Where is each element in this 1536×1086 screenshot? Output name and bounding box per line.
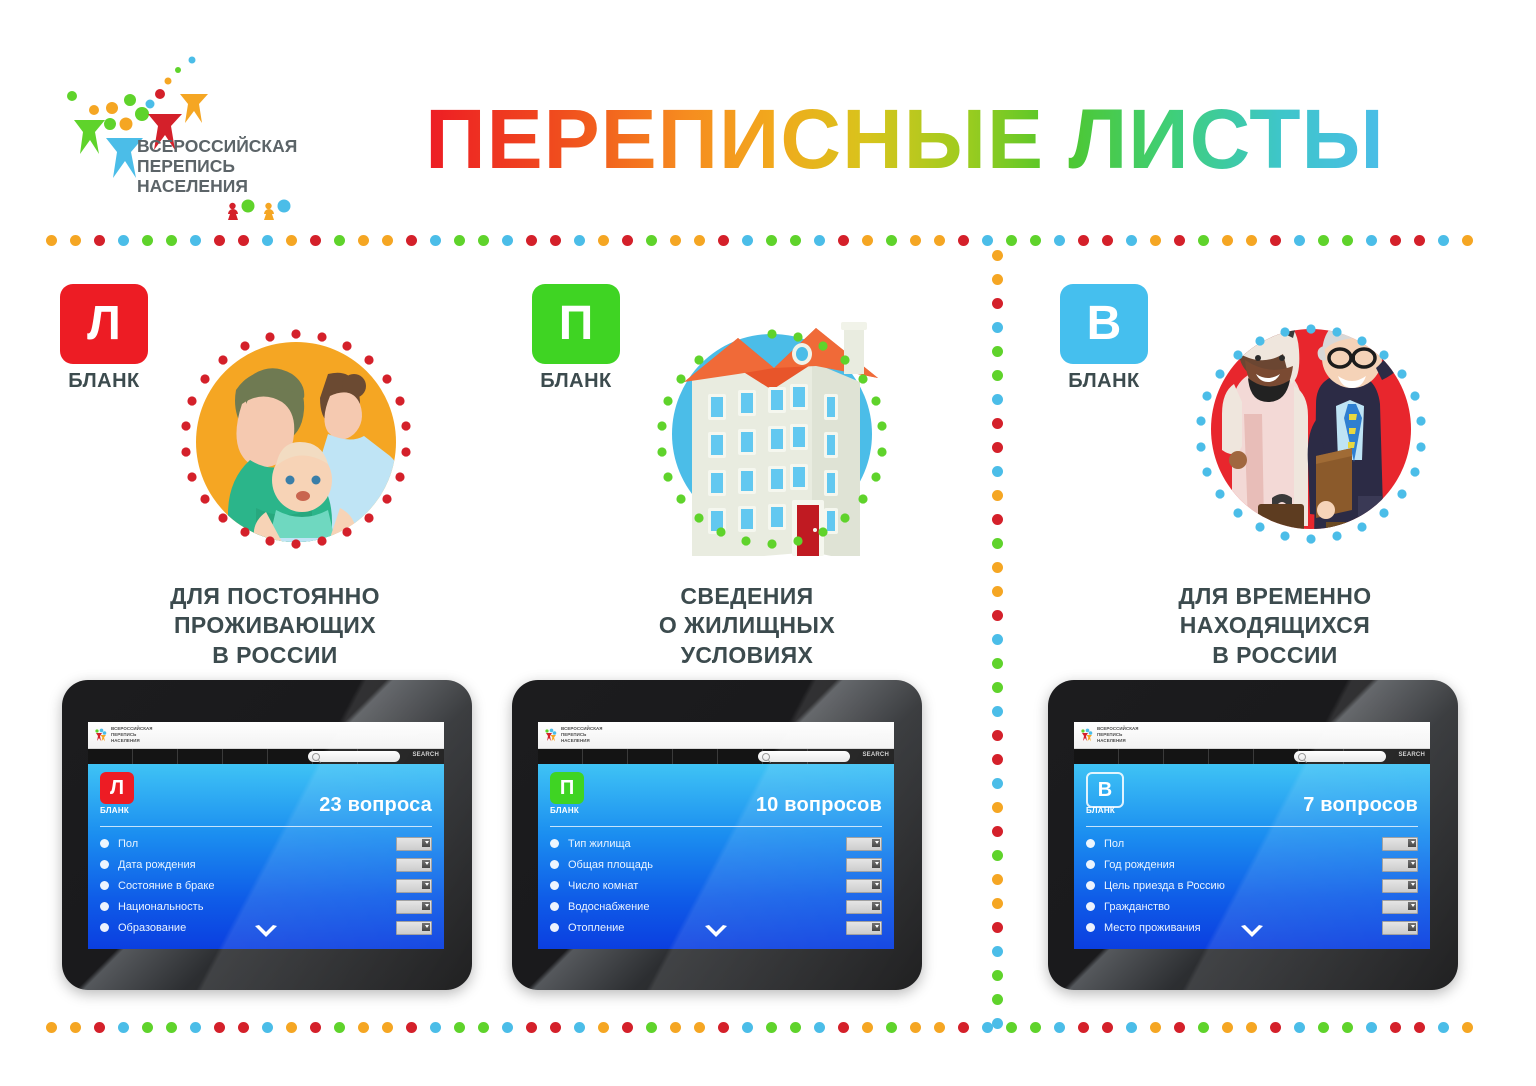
divider-dot xyxy=(718,1022,729,1033)
answer-dropdown[interactable] xyxy=(396,900,432,914)
divider-dot xyxy=(1102,1022,1113,1033)
tablet-badge-letter: П xyxy=(550,772,584,804)
divider-dot xyxy=(406,235,417,246)
divider-dot xyxy=(670,1022,681,1033)
divider-dot xyxy=(598,1022,609,1033)
divider-dot xyxy=(1414,1022,1425,1033)
tablet-badge-label: БЛАНК xyxy=(550,806,579,815)
answer-dropdown[interactable] xyxy=(396,879,432,893)
divider-dot xyxy=(46,1022,57,1033)
divider-dot xyxy=(310,1022,321,1033)
search-input[interactable] xyxy=(758,751,850,762)
divider-dot xyxy=(1342,235,1353,246)
divider-dot xyxy=(670,235,681,246)
search-label[interactable]: SEARCH xyxy=(862,752,889,758)
divider-dot xyxy=(1078,1022,1089,1033)
caption-line: В РОССИИ xyxy=(40,641,510,670)
chevron-down-icon xyxy=(1411,841,1415,844)
divider-dot xyxy=(1318,235,1329,246)
answer-dropdown[interactable] xyxy=(1382,921,1418,935)
list-item[interactable]: Состояние в браке xyxy=(100,875,432,896)
badge-label-v: БЛАНК xyxy=(1050,370,1158,393)
divider-dot xyxy=(646,1022,657,1033)
nav-cell[interactable] xyxy=(268,749,313,764)
answer-dropdown[interactable] xyxy=(396,858,432,872)
divider-dot xyxy=(334,235,345,246)
chevron-down-icon xyxy=(875,904,879,907)
nav-cell[interactable] xyxy=(88,749,133,764)
answer-dropdown[interactable] xyxy=(1382,837,1418,851)
divider-dot xyxy=(1198,1022,1209,1033)
tablet-badge-letter: В xyxy=(1086,772,1124,808)
list-item[interactable]: Пол xyxy=(100,833,432,854)
divider-dot xyxy=(382,1022,393,1033)
tablet-badge-row: Л БЛАНК 23 вопроса xyxy=(100,764,432,824)
tablet-form-body: В БЛАНК 7 вопросов Пол Год рождения Цель… xyxy=(1074,764,1430,949)
nav-cell[interactable] xyxy=(718,749,763,764)
divider-dot xyxy=(94,1022,105,1033)
header: ВСЕРОССИЙСКАЯ ПЕРЕПИСЬ НАСЕЛЕНИЯ ПЕРЕПИС… xyxy=(0,0,1536,232)
logo-line-3: НАСЕЛЕНИЯ xyxy=(137,176,248,196)
divider-dot xyxy=(286,235,297,246)
tablet-badge-label: БЛАНК xyxy=(100,806,129,815)
logo-line-2: ПЕРЕПИСЬ xyxy=(137,156,235,176)
building-illustration xyxy=(632,294,912,556)
divider-dot xyxy=(94,235,105,246)
divider-dot xyxy=(190,1022,201,1033)
bullet-icon xyxy=(100,839,109,848)
answer-dropdown[interactable] xyxy=(846,837,882,851)
badge-label-l: БЛАНК xyxy=(50,370,158,393)
divider-dot xyxy=(838,1022,849,1033)
chevron-down-icon xyxy=(875,925,879,928)
answer-dropdown[interactable] xyxy=(846,900,882,914)
badge-letter-l: Л xyxy=(60,284,148,364)
tablet-topbar: ВСЕРОССИЙСКАЯ ПЕРЕПИСЬ НАСЕЛЕНИЯ xyxy=(88,722,444,749)
caption-line: ДЛЯ ВРЕМЕННО xyxy=(1040,582,1510,611)
bullet-icon xyxy=(1086,860,1095,869)
divider-dot xyxy=(1006,1022,1017,1033)
question-count: 10 вопросов xyxy=(756,794,882,817)
divider-dot xyxy=(742,235,753,246)
bullet-icon xyxy=(1086,839,1095,848)
divider-dot xyxy=(310,235,321,246)
bullet-icon xyxy=(1086,923,1095,932)
divider-dot xyxy=(70,1022,81,1033)
question-label: Пол xyxy=(1104,838,1382,850)
divider-dot xyxy=(1126,235,1137,246)
nav-cell[interactable] xyxy=(178,749,223,764)
chevron-down-icon xyxy=(425,883,429,886)
nav-cell[interactable] xyxy=(1254,749,1299,764)
answer-dropdown[interactable] xyxy=(1382,879,1418,893)
list-item[interactable]: Гражданство xyxy=(1086,896,1418,917)
question-count: 7 вопросов xyxy=(1303,794,1418,817)
tablet-topbar: ВСЕРОССИЙСКАЯ ПЕРЕПИСЬ НАСЕЛЕНИЯ xyxy=(538,722,894,749)
bullet-icon xyxy=(1086,881,1095,890)
tablet-screen-v[interactable]: ВСЕРОССИЙСКАЯ ПЕРЕПИСЬ НАСЕЛЕНИЯ xyxy=(1074,722,1430,949)
divider-dot xyxy=(910,235,921,246)
cards-row: Л БЛАНК xyxy=(0,252,1536,1012)
tablet-screen-p[interactable]: ВСЕРОССИЙСКАЯ ПЕРЕПИСЬ НАСЕЛЕНИЯ xyxy=(538,722,894,949)
divider-dot xyxy=(790,1022,801,1033)
dotted-divider-bottom xyxy=(46,1021,1492,1033)
chevron-down-icon xyxy=(425,841,429,844)
chevron-down-icon xyxy=(1411,925,1415,928)
answer-dropdown[interactable] xyxy=(396,921,432,935)
divider-dot xyxy=(1078,235,1089,246)
divider-dot xyxy=(1102,235,1113,246)
list-item[interactable]: Дата рождения xyxy=(100,854,432,875)
divider-dot xyxy=(1222,1022,1233,1033)
logo-year-2020 xyxy=(228,200,291,221)
logo-line-1: ВСЕРОССИЙСКАЯ xyxy=(137,135,297,156)
divider-dot xyxy=(118,235,129,246)
divider-dot xyxy=(886,235,897,246)
divider-dot xyxy=(1270,1022,1281,1033)
divider-dot xyxy=(382,235,393,246)
list-item[interactable]: Цель приезда в Россию xyxy=(1086,875,1418,896)
divider-dot xyxy=(838,235,849,246)
question-label: Пол xyxy=(118,838,396,850)
tablet-logo-line-3: НАСЕЛЕНИЯ xyxy=(111,738,140,743)
divider-dot xyxy=(886,1022,897,1033)
question-label: Цель приезда в Россию xyxy=(1104,880,1382,892)
question-label: Дата рождения xyxy=(118,859,396,871)
badge-letter-p: П xyxy=(532,284,620,364)
nav-cell[interactable] xyxy=(223,749,268,764)
tablet-form-body: П БЛАНК 10 вопросов Тип жилища Общая пло… xyxy=(538,764,894,949)
chevron-down-icon xyxy=(875,883,879,886)
divider-dot xyxy=(478,235,489,246)
caption-line: НАХОДЯЩИХСЯ xyxy=(1040,611,1510,640)
divider-dot xyxy=(262,1022,273,1033)
tablet-form-body: Л БЛАНК 23 вопроса Пол Дата рождения Сос… xyxy=(88,764,444,949)
divider-dot xyxy=(958,235,969,246)
badge-p: П БЛАНК xyxy=(522,284,630,394)
divider-dot xyxy=(238,235,249,246)
caption-line: О ЖИЛИЩНЫХ xyxy=(512,611,982,640)
answer-dropdown[interactable] xyxy=(846,858,882,872)
question-label: Год рождения xyxy=(1104,859,1382,871)
tablet-device-l: ВСЕРОССИЙСКАЯ ПЕРЕПИСЬ НАСЕЛЕНИЯ xyxy=(62,680,472,990)
list-item[interactable]: Год рождения xyxy=(1086,854,1418,875)
tablet-logo-line-1: ВСЕРОССИЙСКАЯ xyxy=(1097,726,1139,731)
card-caption-v: ДЛЯ ВРЕМЕННО НАХОДЯЩИХСЯ В РОССИИ xyxy=(1040,582,1510,670)
divider-dot xyxy=(1198,235,1209,246)
bullet-icon xyxy=(550,881,559,890)
tablet-logo: ВСЕРОССИЙСКАЯ ПЕРЕПИСЬ НАСЕЛЕНИЯ xyxy=(544,726,603,744)
card-blank-l: Л БЛАНК xyxy=(40,252,510,1012)
bullet-icon xyxy=(550,902,559,911)
search-icon xyxy=(1298,753,1306,761)
search-label[interactable]: SEARCH xyxy=(412,752,439,758)
census-logo-mark-icon xyxy=(544,728,558,742)
nav-cell[interactable] xyxy=(1209,749,1254,764)
bullet-icon xyxy=(1086,902,1095,911)
question-label: Водоснабжение xyxy=(568,901,846,913)
divider-dot xyxy=(1222,235,1233,246)
bullet-icon xyxy=(100,881,109,890)
divider-dot xyxy=(214,235,225,246)
divider-dot xyxy=(70,235,81,246)
tablet-screen-l[interactable]: ВСЕРОССИЙСКАЯ ПЕРЕПИСЬ НАСЕЛЕНИЯ xyxy=(88,722,444,949)
divider-dot xyxy=(286,1022,297,1033)
tablet-logo-line-3: НАСЕЛЕНИЯ xyxy=(1097,738,1126,743)
search-icon xyxy=(312,753,320,761)
divider-dot xyxy=(790,235,801,246)
divider-dot xyxy=(502,1022,513,1033)
divider-dot xyxy=(1054,1022,1065,1033)
infographic-page: ВСЕРОССИЙСКАЯ ПЕРЕПИСЬ НАСЕЛЕНИЯ ПЕРЕПИС… xyxy=(0,0,1536,1086)
caption-line: СВЕДЕНИЯ xyxy=(512,582,982,611)
chevron-down-icon xyxy=(425,925,429,928)
tablet-badge-row: П БЛАНК 10 вопросов xyxy=(550,764,882,824)
divider-dot xyxy=(430,235,441,246)
divider-dot xyxy=(1126,1022,1137,1033)
card-caption-l: ДЛЯ ПОСТОЯННО ПРОЖИВАЮЩИХ В РОССИИ xyxy=(40,582,510,670)
census-logo-mark-icon xyxy=(1080,728,1094,742)
divider-dot xyxy=(1462,235,1473,246)
divider-dot xyxy=(992,1018,1003,1029)
answer-dropdown[interactable] xyxy=(396,837,432,851)
tablet-logo-text: ВСЕРОССИЙСКАЯ ПЕРЕПИСЬ НАСЕЛЕНИЯ xyxy=(111,726,153,744)
divider-dot xyxy=(1390,1022,1401,1033)
divider-dot xyxy=(622,235,633,246)
divider-dot xyxy=(526,235,537,246)
divider-dot xyxy=(574,235,585,246)
divider-dot xyxy=(1438,1022,1449,1033)
tablet-logo-line-2: ПЕРЕПИСЬ xyxy=(561,732,586,737)
chevron-down-icon xyxy=(875,862,879,865)
nav-cell[interactable] xyxy=(538,749,583,764)
nav-cell[interactable] xyxy=(1119,749,1164,764)
list-item[interactable]: Общая площадь xyxy=(550,854,882,875)
tablet-logo: ВСЕРОССИЙСКАЯ ПЕРЕПИСЬ НАСЕЛЕНИЯ xyxy=(94,726,153,744)
nav-cell[interactable] xyxy=(673,749,718,764)
divider-dot xyxy=(982,235,993,246)
list-item[interactable]: Водоснабжение xyxy=(550,896,882,917)
divider-dot xyxy=(1006,235,1017,246)
tablet-logo-line-1: ВСЕРОССИЙСКАЯ xyxy=(111,726,153,731)
divider-dot xyxy=(1246,235,1257,246)
page-title: ПЕРЕПИСНЫЕ ЛИСТЫ xyxy=(400,86,1410,192)
answer-dropdown[interactable] xyxy=(846,879,882,893)
divider-dot xyxy=(958,1022,969,1033)
tablet-logo-line-2: ПЕРЕПИСЬ xyxy=(111,732,136,737)
tablet-logo: ВСЕРОССИЙСКАЯ ПЕРЕПИСЬ НАСЕЛЕНИЯ xyxy=(1080,726,1139,744)
card-blank-p: П БЛАНК xyxy=(512,252,982,1012)
divider-dot xyxy=(1270,235,1281,246)
divider-dot xyxy=(1174,1022,1185,1033)
list-item[interactable]: Пол xyxy=(1086,833,1418,854)
list-item[interactable]: Число комнат xyxy=(550,875,882,896)
page-title-text: ПЕРЕПИСНЫЕ ЛИСТЫ xyxy=(425,97,1385,181)
divider-dot xyxy=(622,1022,633,1033)
nav-cell[interactable] xyxy=(1164,749,1209,764)
caption-line: УСЛОВИЯХ xyxy=(512,641,982,670)
divider-dot xyxy=(454,235,465,246)
divider-dot xyxy=(934,235,945,246)
divider-dot xyxy=(1366,1022,1377,1033)
divider-dot xyxy=(814,1022,825,1033)
divider-dot xyxy=(934,1022,945,1033)
expand-more-icon[interactable] xyxy=(703,924,729,940)
card-caption-p: СВЕДЕНИЯ О ЖИЛИЩНЫХ УСЛОВИЯХ xyxy=(512,582,982,670)
answer-dropdown[interactable] xyxy=(1382,858,1418,872)
divider-dot xyxy=(46,235,57,246)
tablet-logo-line-2: ПЕРЕПИСЬ xyxy=(1097,732,1122,737)
tablet-topbar: ВСЕРОССИЙСКАЯ ПЕРЕПИСЬ НАСЕЛЕНИЯ xyxy=(1074,722,1430,749)
question-label: Тип жилища xyxy=(568,838,846,850)
census-logo-mark-icon xyxy=(94,728,108,742)
divider xyxy=(550,826,882,827)
divider-dot xyxy=(1438,235,1449,246)
nav-cell[interactable] xyxy=(133,749,178,764)
question-list: Пол Год рождения Цель приезда в Россию Г… xyxy=(1086,833,1418,938)
divider-dot xyxy=(742,1022,753,1033)
chevron-down-icon xyxy=(425,862,429,865)
tablet-badge-label: БЛАНК xyxy=(1086,806,1115,815)
divider-dot xyxy=(1246,1022,1257,1033)
tablet-device-p: ВСЕРОССИЙСКАЯ ПЕРЕПИСЬ НАСЕЛЕНИЯ xyxy=(512,680,922,990)
list-item[interactable]: Национальность xyxy=(100,896,432,917)
divider-dot xyxy=(262,235,273,246)
chevron-down-icon xyxy=(1411,883,1415,886)
search-icon xyxy=(762,753,770,761)
bullet-icon xyxy=(100,902,109,911)
bullet-icon xyxy=(550,860,559,869)
divider-dot xyxy=(142,1022,153,1033)
tablet-navbar: SEARCH xyxy=(538,749,894,764)
divider-dot xyxy=(238,1022,249,1033)
divider-dot xyxy=(478,1022,489,1033)
divider-dot xyxy=(766,235,777,246)
divider-dot xyxy=(694,1022,705,1033)
divider-dot xyxy=(574,1022,585,1033)
divider-dot xyxy=(166,1022,177,1033)
divider-dot xyxy=(118,1022,129,1033)
question-count: 23 вопроса xyxy=(319,794,432,817)
divider-dot xyxy=(646,235,657,246)
divider-dot xyxy=(1030,235,1041,246)
divider-dot xyxy=(550,1022,561,1033)
dotted-divider-top xyxy=(46,234,1492,246)
search-input[interactable] xyxy=(308,751,400,762)
answer-dropdown[interactable] xyxy=(846,921,882,935)
divider-dot xyxy=(1150,235,1161,246)
divider-dot xyxy=(694,235,705,246)
two-men-illustration xyxy=(1166,284,1456,554)
question-label: Гражданство xyxy=(1104,901,1382,913)
divider-dot xyxy=(1030,1022,1041,1033)
bullet-icon xyxy=(550,923,559,932)
divider-dot xyxy=(814,235,825,246)
bullet-icon xyxy=(100,923,109,932)
badge-label-p: БЛАНК xyxy=(522,370,630,393)
expand-more-icon[interactable] xyxy=(253,924,279,940)
question-label: Число комнат xyxy=(568,880,846,892)
bullet-icon xyxy=(550,839,559,848)
divider-dot xyxy=(1342,1022,1353,1033)
nav-cell[interactable] xyxy=(628,749,673,764)
chevron-down-icon xyxy=(875,841,879,844)
divider-dot xyxy=(334,1022,345,1033)
divider-dot xyxy=(454,1022,465,1033)
divider-dot xyxy=(358,235,369,246)
divider-dot xyxy=(1174,235,1185,246)
chevron-down-icon xyxy=(425,904,429,907)
caption-line: В РОССИИ xyxy=(1040,641,1510,670)
divider-dot xyxy=(1462,1022,1473,1033)
tablet-badge-letter: Л xyxy=(100,772,134,804)
tablet-device-v: ВСЕРОССИЙСКАЯ ПЕРЕПИСЬ НАСЕЛЕНИЯ xyxy=(1048,680,1458,990)
nav-cell[interactable] xyxy=(583,749,628,764)
divider-dot xyxy=(1150,1022,1161,1033)
question-label: Национальность xyxy=(118,901,396,913)
nav-cell[interactable] xyxy=(1074,749,1119,764)
divider-dot xyxy=(598,235,609,246)
caption-line: ДЛЯ ПОСТОЯННО xyxy=(40,582,510,611)
divider-dot xyxy=(1414,235,1425,246)
divider-dot xyxy=(718,235,729,246)
census-logo: ВСЕРОССИЙСКАЯ ПЕРЕПИСЬ НАСЕЛЕНИЯ xyxy=(42,48,342,223)
chevron-down-icon xyxy=(1411,904,1415,907)
divider-dot xyxy=(1294,235,1305,246)
tablet-logo-line-1: ВСЕРОССИЙСКАЯ xyxy=(561,726,603,731)
divider xyxy=(1086,826,1418,827)
tablet-logo-text: ВСЕРОССИЙСКАЯ ПЕРЕПИСЬ НАСЕЛЕНИЯ xyxy=(561,726,603,744)
divider-dot xyxy=(862,1022,873,1033)
search-label[interactable]: SEARCH xyxy=(1398,752,1425,758)
divider xyxy=(100,826,432,827)
bullet-icon xyxy=(100,860,109,869)
divider-dot xyxy=(862,235,873,246)
divider-dot xyxy=(1390,235,1401,246)
divider-dot xyxy=(1366,235,1377,246)
tablet-logo-line-3: НАСЕЛЕНИЯ xyxy=(561,738,590,743)
divider-dot xyxy=(190,235,201,246)
divider-dot xyxy=(406,1022,417,1033)
divider-dot xyxy=(1054,235,1065,246)
divider-dot xyxy=(1294,1022,1305,1033)
answer-dropdown[interactable] xyxy=(1382,900,1418,914)
card-blank-v: В БЛАНК xyxy=(1040,252,1510,1012)
divider-dot xyxy=(358,1022,369,1033)
question-label: Состояние в браке xyxy=(118,880,396,892)
tablet-navbar: SEARCH xyxy=(1074,749,1430,764)
chevron-down-icon xyxy=(1411,862,1415,865)
tablet-badge-row: В БЛАНК 7 вопросов xyxy=(1086,764,1418,824)
divider-dot xyxy=(502,235,513,246)
divider-dot xyxy=(910,1022,921,1033)
question-list: Тип жилища Общая площадь Число комнат Во… xyxy=(550,833,882,938)
caption-line: ПРОЖИВАЮЩИХ xyxy=(40,611,510,640)
search-input[interactable] xyxy=(1294,751,1386,762)
tablet-navbar: SEARCH xyxy=(88,749,444,764)
badge-l: Л БЛАНК xyxy=(50,284,158,394)
list-item[interactable]: Тип жилища xyxy=(550,833,882,854)
divider-dot xyxy=(766,1022,777,1033)
expand-more-icon[interactable] xyxy=(1239,924,1265,940)
divider-dot xyxy=(1318,1022,1329,1033)
family-illustration xyxy=(178,312,414,564)
divider-dot xyxy=(166,235,177,246)
question-list: Пол Дата рождения Состояние в браке Наци… xyxy=(100,833,432,938)
question-label: Общая площадь xyxy=(568,859,846,871)
badge-v: В БЛАНК xyxy=(1050,284,1158,394)
divider-dot xyxy=(214,1022,225,1033)
